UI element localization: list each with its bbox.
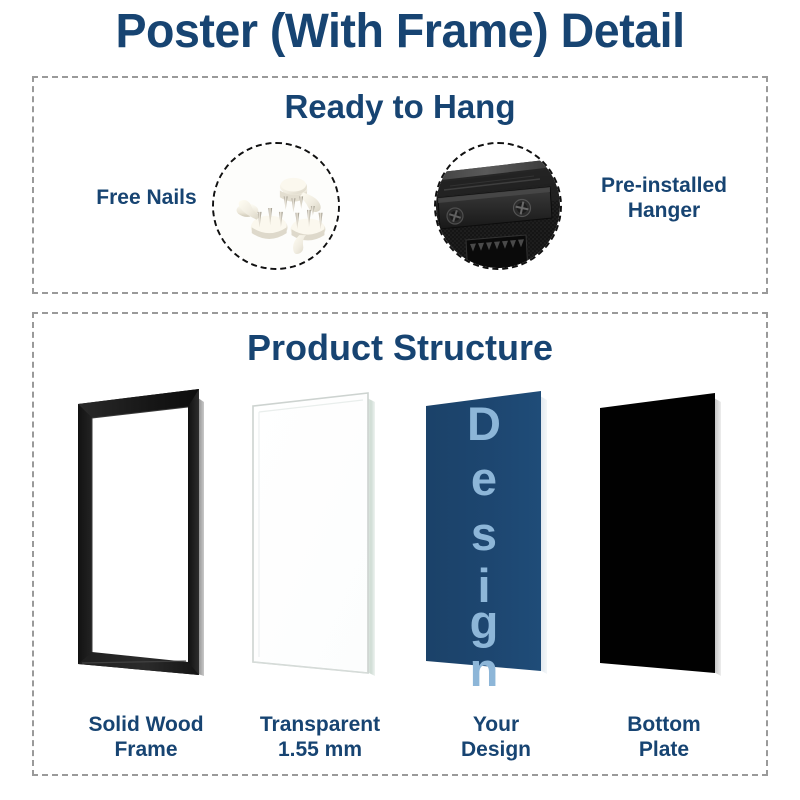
layer-your-design: D e s i g n: [414, 376, 574, 706]
ready-to-hang-section: Ready to Hang Free Nails: [32, 76, 768, 294]
ready-to-hang-title: Ready to Hang: [34, 90, 766, 123]
nails-image-clip: [214, 144, 338, 268]
layer-solid-wood-frame: [66, 376, 226, 706]
free-nails-label: Free Nails: [64, 186, 229, 211]
caption-bottom-plate: Bottom Plate: [574, 712, 754, 762]
sawtooth-hanger-icon: [436, 144, 560, 268]
product-structure-title: Product Structure: [34, 330, 766, 366]
product-structure-section: Product Structure: [32, 312, 768, 776]
pre-installed-hanger-label: Pre-installed Hanger: [574, 174, 754, 224]
layer-transparent-sheet: [239, 376, 399, 706]
wall-hook-nails-icon: [214, 144, 338, 268]
page-title: Poster (With Frame) Detail: [12, 8, 788, 56]
caption-your-design: Your Design: [406, 712, 586, 762]
pre-installed-hanger-photo: [434, 142, 562, 270]
transparent-sheet-panel-icon: [239, 376, 399, 706]
black-frame-panel-icon: [66, 376, 226, 706]
caption-solid-wood-frame: Solid Wood Frame: [56, 712, 236, 762]
free-nails-photo: [212, 142, 340, 270]
structure-layers: D e s i g n: [34, 376, 766, 706]
caption-transparent: Transparent 1.55 mm: [230, 712, 410, 762]
infographic-page: Poster (With Frame) Detail Ready to Hang…: [0, 0, 800, 800]
design-artwork-panel-icon: [414, 376, 574, 706]
black-backing-panel-icon: [584, 376, 744, 706]
hanger-image-clip: [436, 144, 560, 268]
layer-bottom-plate: [584, 376, 744, 706]
ready-to-hang-items: Free Nails: [34, 136, 766, 286]
